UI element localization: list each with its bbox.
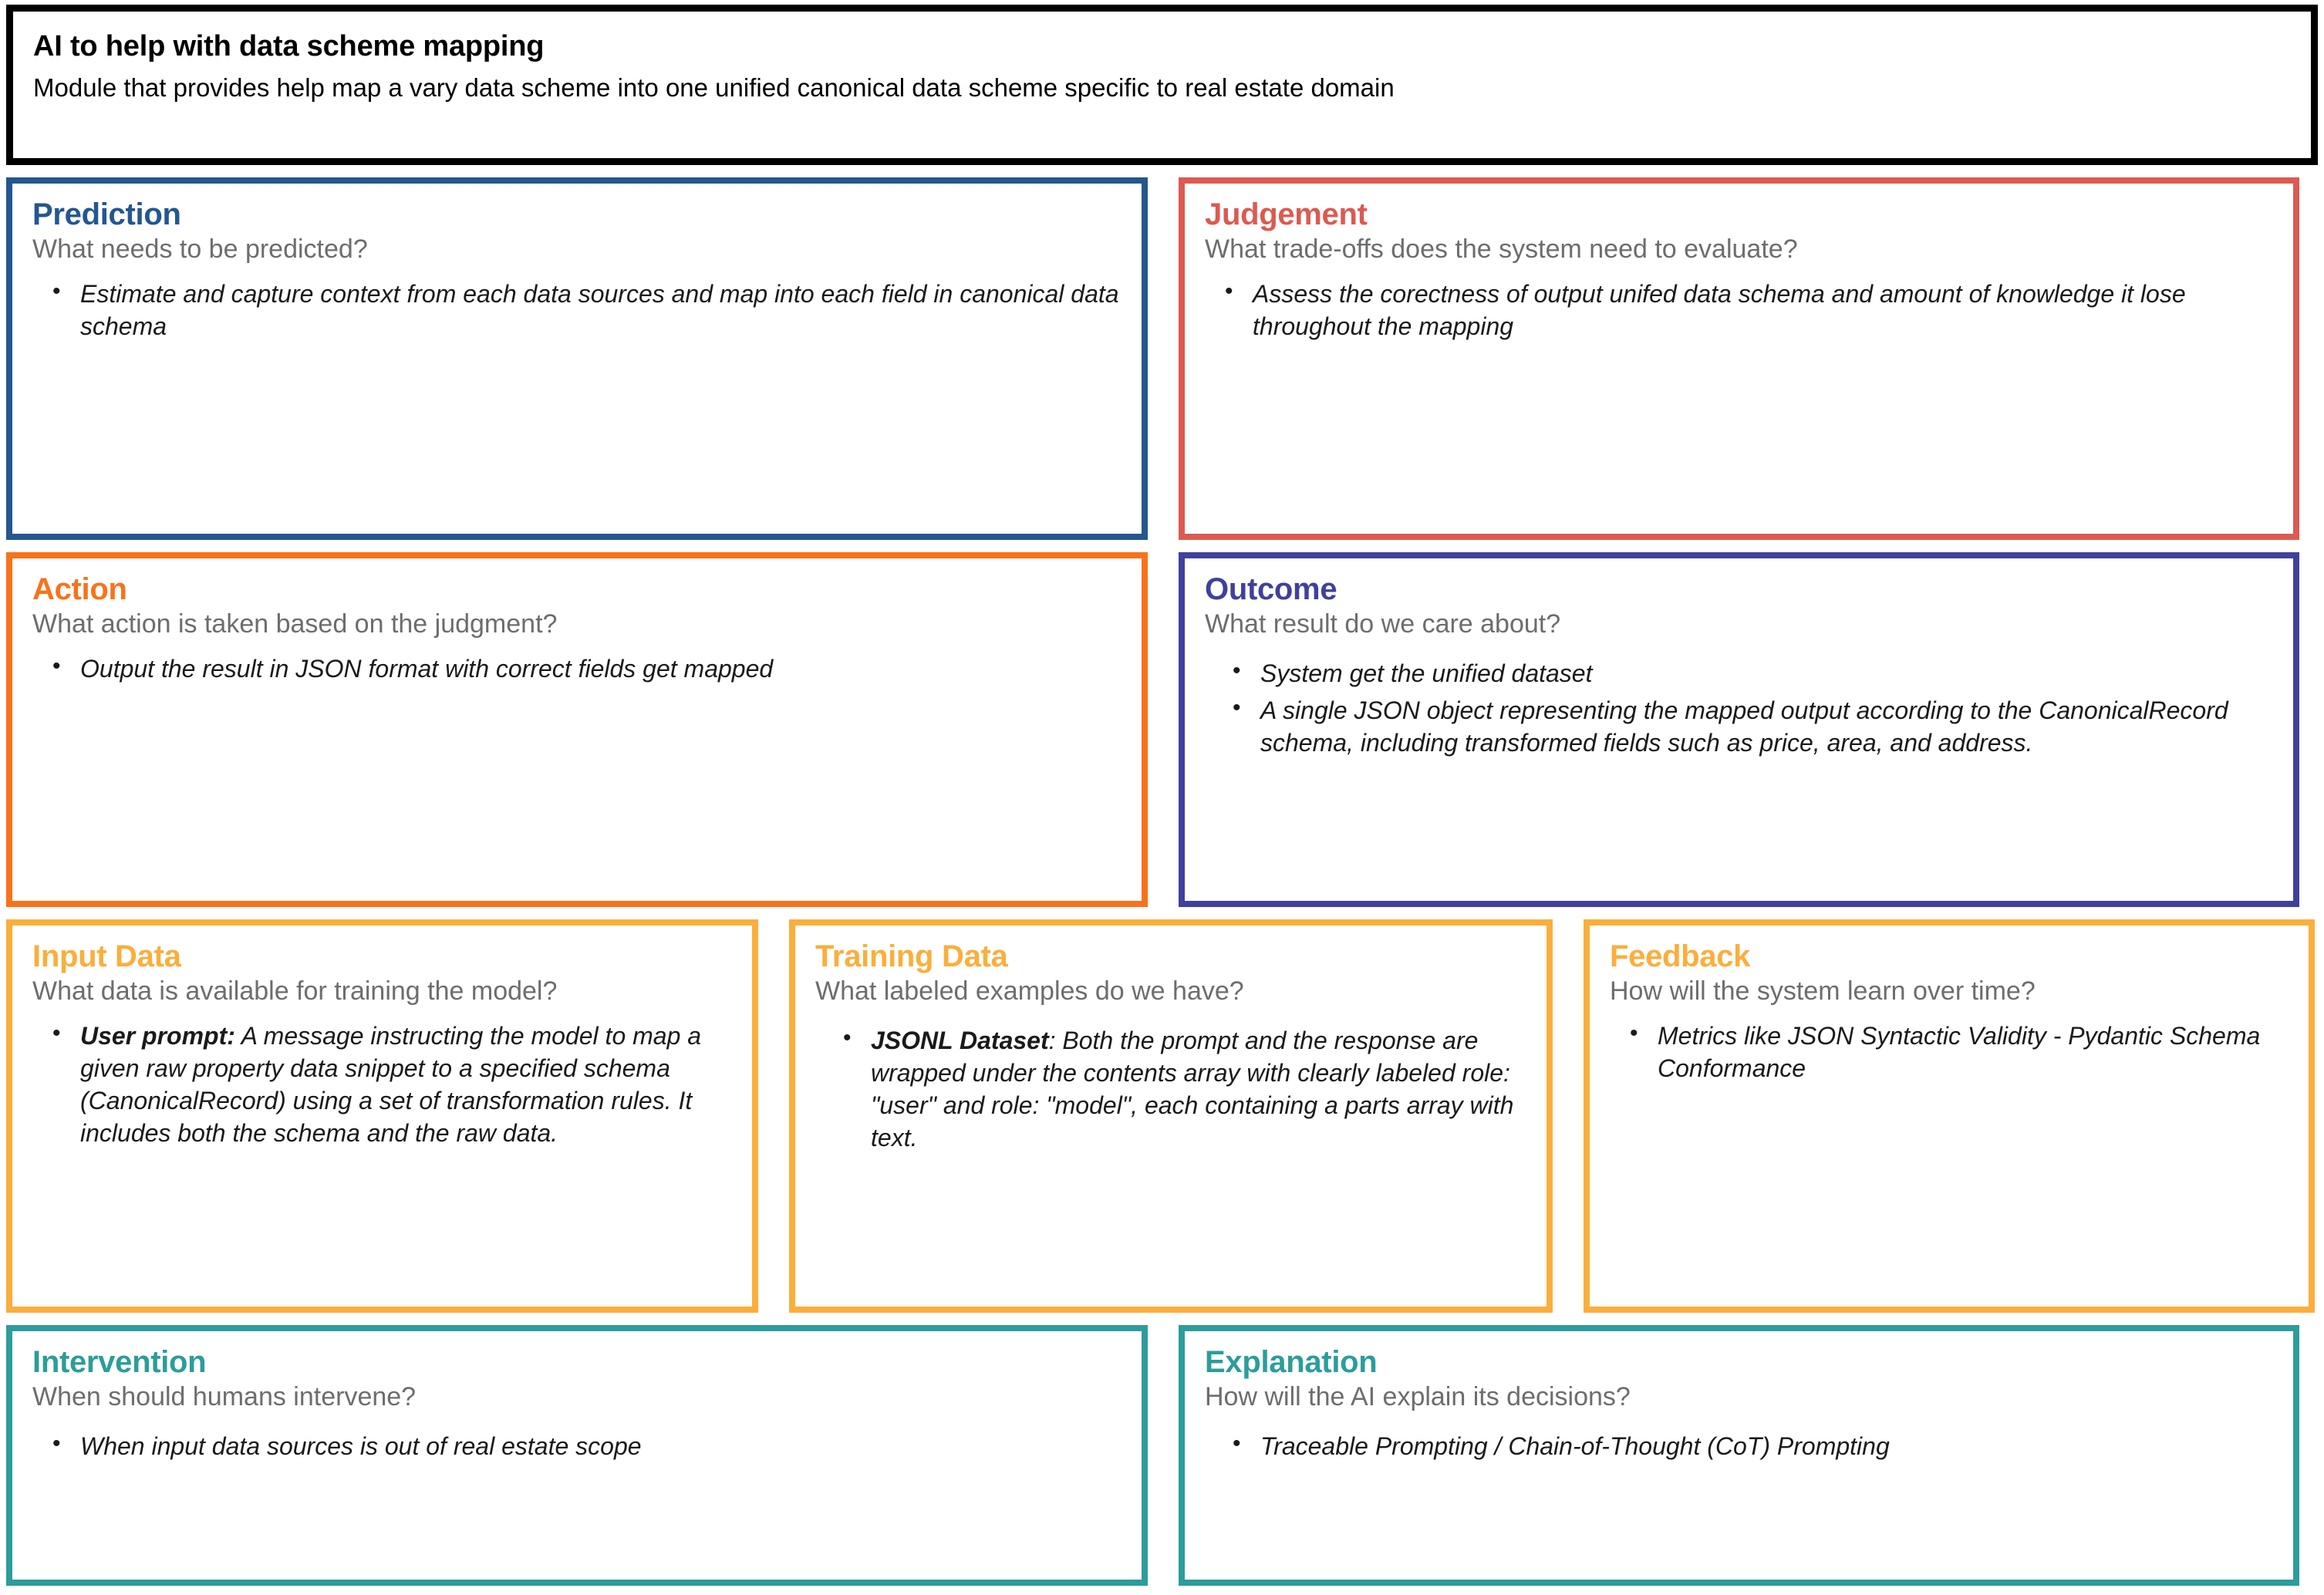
card-input-data-question: What data is available for training the … [32, 976, 734, 1007]
list-item-text: Assess the corectness of output unifed d… [1253, 280, 2186, 340]
card-judgement-list: Assess the corectness of output unifed d… [1205, 278, 2275, 342]
header-box: AI to help with data scheme mapping Modu… [6, 5, 2318, 165]
card-explanation-title: Explanation [1205, 1345, 2275, 1380]
list-item: A single JSON object representing the ma… [1260, 694, 2275, 759]
ai-canvas: AI to help with data scheme mapping Modu… [0, 0, 2324, 1595]
card-input-data-list: User prompt: A message instructing the m… [32, 1020, 734, 1150]
card-action-title: Action [32, 572, 1123, 607]
list-item: Assess the corectness of output unifed d… [1253, 278, 2275, 342]
card-intervention[interactable]: Intervention When should humans interven… [6, 1325, 1148, 1586]
card-input-data-title: Input Data [32, 939, 734, 974]
card-action-question: What action is taken based on the judgme… [32, 609, 1123, 640]
card-training-data[interactable]: Training Data What labeled examples do w… [789, 919, 1553, 1313]
card-explanation[interactable]: Explanation How will the AI explain its … [1179, 1325, 2299, 1586]
canvas-row-4: Intervention When should humans interven… [6, 1325, 2318, 1586]
card-prediction-list: Estimate and capture context from each d… [32, 278, 1123, 342]
card-input-data[interactable]: Input Data What data is available for tr… [6, 919, 758, 1313]
card-training-data-title: Training Data [815, 939, 1528, 974]
card-training-data-question: What labeled examples do we have? [815, 976, 1528, 1007]
card-feedback-list: Metrics like JSON Syntactic Validity - P… [1610, 1020, 2290, 1084]
card-judgement-question: What trade-offs does the system need to … [1205, 234, 2275, 265]
card-feedback[interactable]: Feedback How will the system learn over … [1584, 919, 2315, 1313]
card-prediction-question: What needs to be predicted? [32, 234, 1123, 265]
card-feedback-question: How will the system learn over time? [1610, 976, 2290, 1007]
list-item-text: Output the result in JSON format with co… [80, 655, 773, 683]
card-judgement[interactable]: Judgement What trade-offs does the syste… [1179, 177, 2299, 540]
list-item-lead: JSONL Dataset [871, 1027, 1049, 1054]
list-item: When input data sources is out of real e… [80, 1430, 1123, 1462]
card-outcome-question: What result do we care about? [1205, 609, 2275, 640]
list-item: System get the unified dataset [1260, 657, 2275, 690]
card-explanation-question: How will the AI explain its decisions? [1205, 1381, 2275, 1413]
card-explanation-list: Traceable Prompting / Chain-of-Thought (… [1205, 1430, 2275, 1462]
list-item: Estimate and capture context from each d… [80, 278, 1123, 342]
card-prediction[interactable]: Prediction What needs to be predicted? E… [6, 177, 1148, 540]
canvas-row-3: Input Data What data is available for tr… [6, 919, 2318, 1313]
card-intervention-list: When input data sources is out of real e… [32, 1430, 1123, 1462]
card-feedback-title: Feedback [1610, 939, 2290, 974]
list-item: User prompt: A message instructing the m… [80, 1020, 734, 1150]
page-title: AI to help with data scheme mapping [33, 29, 2291, 66]
list-item-text: System get the unified dataset [1260, 659, 1592, 687]
card-outcome-list: System get the unified dataset A single … [1205, 657, 2275, 760]
canvas-row-2: Action What action is taken based on the… [6, 552, 2318, 907]
list-item: Metrics like JSON Syntactic Validity - P… [1658, 1020, 2290, 1084]
card-judgement-title: Judgement [1205, 197, 2275, 232]
card-intervention-title: Intervention [32, 1345, 1123, 1380]
list-item-lead: User prompt: [80, 1022, 235, 1050]
list-item-text: Metrics like JSON Syntactic Validity - P… [1658, 1022, 2260, 1082]
list-item-text: A single JSON object representing the ma… [1260, 696, 2228, 757]
card-prediction-title: Prediction [32, 197, 1123, 232]
list-item: JSONL Dataset: Both the prompt and the r… [871, 1024, 1528, 1155]
card-outcome[interactable]: Outcome What result do we care about? Sy… [1179, 552, 2299, 907]
list-item-text: Traceable Prompting / Chain-of-Thought (… [1260, 1432, 1890, 1460]
list-item-text: When input data sources is out of real e… [80, 1432, 642, 1460]
page-subtitle: Module that provides help map a vary dat… [33, 72, 2291, 105]
card-action[interactable]: Action What action is taken based on the… [6, 552, 1148, 907]
card-intervention-question: When should humans intervene? [32, 1381, 1123, 1413]
list-item: Output the result in JSON format with co… [80, 652, 1123, 685]
card-outcome-title: Outcome [1205, 572, 2275, 607]
canvas-row-1: Prediction What needs to be predicted? E… [6, 177, 2318, 540]
card-action-list: Output the result in JSON format with co… [32, 652, 1123, 685]
list-item-text: Estimate and capture context from each d… [80, 280, 1119, 340]
list-item: Traceable Prompting / Chain-of-Thought (… [1260, 1430, 2275, 1462]
card-training-data-list: JSONL Dataset: Both the prompt and the r… [815, 1024, 1528, 1155]
